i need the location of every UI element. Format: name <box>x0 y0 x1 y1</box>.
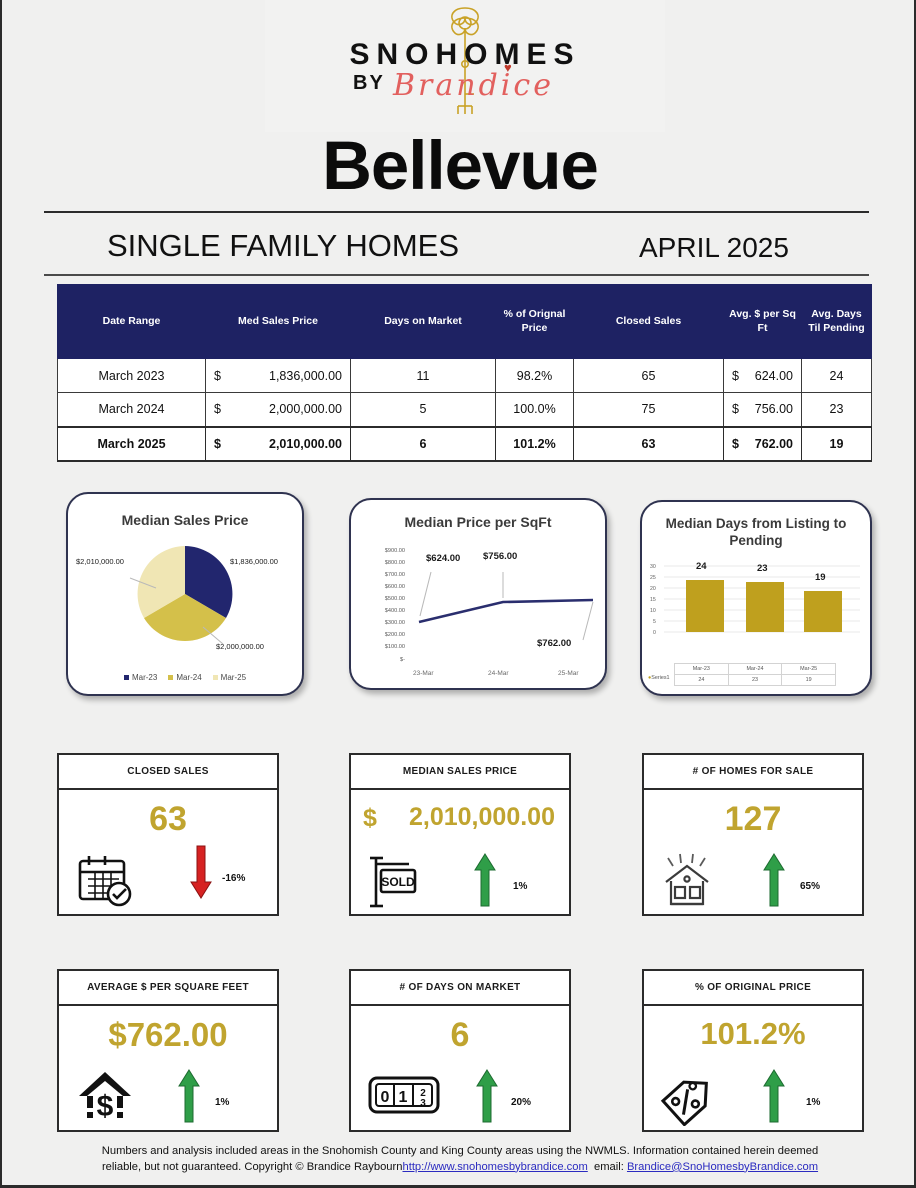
leader-line-762 <box>583 602 593 640</box>
email-link[interactable]: Brandice@SnoHomesbyBrandice.com <box>627 1161 818 1173</box>
brand-by-label: BY <box>353 72 385 95</box>
dt-val-mar-24: 23 <box>728 675 782 686</box>
trend-up-arrow-icon <box>475 1068 499 1126</box>
amount: 1,836,000.00 <box>269 369 342 383</box>
price-tag-percent-icon <box>660 1070 722 1126</box>
bar-mar-24 <box>746 582 784 632</box>
amount: 624.00 <box>755 369 793 383</box>
currency-symbol: $ <box>732 437 739 451</box>
ytick-zero: $- <box>357 657 405 663</box>
dt-cat-mar-25: Mar-25 <box>782 664 836 675</box>
cell-date-range: March 2023 <box>58 359 206 393</box>
ytick-600: $600.00 <box>357 584 405 590</box>
heart-icon: ♥ <box>504 60 512 75</box>
stat-delta: 65% <box>800 881 820 892</box>
table-row: March 2025 $2,010,000.00 6 101.2% 63 $76… <box>58 427 872 461</box>
cell-med-price: $1,836,000.00 <box>206 359 351 393</box>
col-date-range: Date Range <box>58 285 206 359</box>
currency-symbol: $ <box>214 437 221 451</box>
cell-closed-sales: 65 <box>574 359 724 393</box>
calendar-check-icon <box>75 852 137 910</box>
trend-up-arrow-icon <box>177 1068 201 1126</box>
col-avg-days-pending: Avg. Days Til Pending <box>802 285 872 359</box>
ytick-200: $200.00 <box>357 632 405 638</box>
currency-symbol: $ <box>214 402 221 416</box>
sold-sign-icon: SOLD <box>367 854 429 910</box>
ytick-30: 30 <box>650 564 656 570</box>
trend-up-arrow-icon <box>762 852 786 910</box>
col-pct-original: % of Orignal Price <box>496 285 574 359</box>
stat-title: MEDIAN SALES PRICE <box>351 755 569 790</box>
property-type-label: SINGLE FAMILY HOMES <box>107 228 459 264</box>
stat-delta: 1% <box>513 881 527 892</box>
trend-down-arrow-icon <box>189 844 213 902</box>
trend-up-arrow-icon <box>762 1068 786 1126</box>
amount: 762.00 <box>755 437 793 451</box>
footer-line-2: reliable, but not guaranteed. Copyright … <box>102 1161 403 1173</box>
trend-up-arrow-icon <box>473 852 497 910</box>
svg-text:1: 1 <box>399 1089 408 1106</box>
data-table-header-row: Mar-23 Mar-24 Mar-25 <box>675 664 836 675</box>
col-closed-sales: Closed Sales <box>574 285 724 359</box>
table-header-row: Date Range Med Sales Price Days on Marke… <box>58 285 872 359</box>
stat-value: 6 <box>351 1016 569 1055</box>
cell-date-range: March 2024 <box>58 393 206 427</box>
chart-median-sales-price: Median Sales Price $2,010,000.00 $1,836,… <box>66 492 304 696</box>
divider-bottom <box>44 274 869 276</box>
stat-value: $762.00 <box>59 1016 277 1054</box>
stat-value: 127 <box>644 800 862 839</box>
chart-median-price-per-sqft: Median Price per SqFt $900.00 $800.00 $7… <box>349 498 607 690</box>
footer-disclaimer: Numbers and analysis included areas in t… <box>2 1143 916 1175</box>
cell-days-market: 6 <box>351 427 496 461</box>
point-label-762: $762.00 <box>537 638 571 649</box>
bar-mar-23 <box>686 580 724 632</box>
stat-title: # OF HOMES FOR SALE <box>644 755 862 790</box>
market-stats-table: Date Range Med Sales Price Days on Marke… <box>57 284 864 462</box>
website-link[interactable]: http://www.snohomesbybrandice.com <box>402 1161 587 1173</box>
pie-label-mar-25: $2,010,000.00 <box>76 557 124 566</box>
cell-med-price: $2,010,000.00 <box>206 427 351 461</box>
cell-days-pending: 23 <box>802 393 872 427</box>
chart-median-days-to-pending: Median Days from Listing to Pending 30 2… <box>640 500 872 696</box>
ytick-15: 15 <box>650 597 656 603</box>
data-table-value-row: 24 23 19 <box>675 675 836 686</box>
table-row: March 2023 $1,836,000.00 11 98.2% 65 $62… <box>58 359 872 393</box>
bar-value-mar-25: 19 <box>815 572 826 583</box>
col-med-sales-price: Med Sales Price <box>206 285 351 359</box>
xtick-24-mar: 24-Mar <box>488 670 509 677</box>
ytick-100: $100.00 <box>357 644 405 650</box>
ytick-10: 10 <box>650 608 656 614</box>
svg-text:3: 3 <box>420 1098 426 1109</box>
ytick-300: $300.00 <box>357 620 405 626</box>
stat-card-pct-of-original-price: % OF ORIGINAL PRICE 101.2% 1% <box>642 969 864 1132</box>
amount: 2,000,000.00 <box>269 402 342 416</box>
cell-closed-sales: 75 <box>574 393 724 427</box>
stat-card-median-sales-price: MEDIAN SALES PRICE $ 2,010,000.00 SOLD 1… <box>349 753 571 916</box>
legend-item-mar-25: Mar-25 <box>213 673 246 682</box>
divider-top <box>44 211 869 213</box>
stat-delta: 20% <box>511 1097 531 1108</box>
xtick-25-mar: 25-Mar <box>558 670 579 677</box>
ytick-25: 25 <box>650 575 656 581</box>
cell-days-pending: 19 <box>802 427 872 461</box>
bar-value-mar-24: 23 <box>757 563 768 574</box>
cell-days-market: 5 <box>351 393 496 427</box>
bar-mar-25 <box>804 591 842 632</box>
stat-title: # OF DAYS ON MARKET <box>351 971 569 1006</box>
stat-value-prefix: $ <box>363 804 377 833</box>
pie-label-mar-23: $1,836,000.00 <box>230 557 278 566</box>
chart-title: Median Days from Listing to Pending <box>642 516 870 550</box>
report-period-label: APRIL 2025 <box>639 232 789 264</box>
currency-symbol: $ <box>732 402 739 416</box>
bar-legend-series: ●Series1 <box>648 675 670 681</box>
point-label-624: $624.00 <box>426 553 460 564</box>
brand-script-name: Brandice <box>393 68 554 103</box>
pie-legend: Mar-23 Mar-24 Mar-25 <box>68 673 302 682</box>
pie-svg <box>68 532 302 652</box>
page-title: Bellevue <box>2 126 916 205</box>
email-label: email: <box>594 1161 624 1173</box>
dt-val-mar-25: 19 <box>782 675 836 686</box>
currency-symbol: $ <box>214 369 221 383</box>
ytick-500: $500.00 <box>357 596 405 602</box>
cell-pct-original: 101.2% <box>496 427 574 461</box>
bar-value-mar-23: 24 <box>696 561 707 572</box>
stat-value: 101.2% <box>644 1016 862 1052</box>
ytick-5: 5 <box>653 619 656 625</box>
cell-avg-sqft: $756.00 <box>724 393 802 427</box>
cell-avg-sqft: $762.00 <box>724 427 802 461</box>
legend-item-mar-24: Mar-24 <box>168 673 201 682</box>
leader-line-624 <box>420 572 431 616</box>
point-label-756: $756.00 <box>483 551 517 562</box>
chart-title: Median Sales Price <box>68 512 302 528</box>
house-sparkle-icon <box>660 852 722 910</box>
col-avg-per-sqft: Avg. $ per Sq Ft <box>724 285 802 359</box>
ytick-0: 0 <box>653 630 656 636</box>
dt-cat-mar-24: Mar-24 <box>728 664 782 675</box>
ytick-400: $400.00 <box>357 608 405 614</box>
svg-text:$: $ <box>97 1090 114 1123</box>
svg-text:0: 0 <box>381 1089 390 1106</box>
cell-closed-sales: 63 <box>574 427 724 461</box>
stat-card-homes-for-sale: # OF HOMES FOR SALE 127 <box>642 753 864 916</box>
xtick-23-mar: 23-Mar <box>413 670 434 677</box>
brand-logo: SNOHOMES BY Brandice ♥ <box>265 0 665 132</box>
bar-data-table: Mar-23 Mar-24 Mar-25 24 23 19 <box>674 663 836 686</box>
cell-med-price: $2,000,000.00 <box>206 393 351 427</box>
stat-delta: 1% <box>215 1097 229 1108</box>
cell-pct-original: 100.0% <box>496 393 574 427</box>
currency-symbol: $ <box>732 369 739 383</box>
amount: 756.00 <box>755 402 793 416</box>
cell-days-market: 11 <box>351 359 496 393</box>
line-series <box>419 600 593 622</box>
col-days-on-market: Days on Market <box>351 285 496 359</box>
stat-value: 63 <box>59 800 277 839</box>
amount: 2,010,000.00 <box>269 437 342 451</box>
bar-svg <box>664 562 860 644</box>
brand-name: SNOHOMES <box>265 38 665 72</box>
stat-card-days-on-market: # OF DAYS ON MARKET 6 0 1 2 3 20% <box>349 969 571 1132</box>
stat-card-closed-sales: CLOSED SALES 63 <box>57 753 279 916</box>
cell-avg-sqft: $624.00 <box>724 359 802 393</box>
stat-value: 2,010,000.00 <box>409 803 555 832</box>
stat-delta: 1% <box>806 1097 820 1108</box>
odometer-icon: 0 1 2 3 <box>367 1074 447 1118</box>
house-dollar-icon: $ <box>75 1066 141 1126</box>
svg-text:SOLD: SOLD <box>381 875 415 889</box>
cell-days-pending: 24 <box>802 359 872 393</box>
legend-item-mar-23: Mar-23 <box>124 673 157 682</box>
ytick-800: $800.00 <box>357 560 405 566</box>
chart-title: Median Price per SqFt <box>351 514 605 530</box>
stat-card-avg-per-sqft: AVERAGE $ PER SQUARE FEET $762.00 $ 1% <box>57 969 279 1132</box>
stat-title: % OF ORIGINAL PRICE <box>644 971 862 1006</box>
ytick-20: 20 <box>650 586 656 592</box>
table-row: March 2024 $2,000,000.00 5 100.0% 75 $75… <box>58 393 872 427</box>
ytick-900: $900.00 <box>357 548 405 554</box>
ytick-700: $700.00 <box>357 572 405 578</box>
stat-title: CLOSED SALES <box>59 755 277 790</box>
stat-delta: -16% <box>222 873 245 884</box>
cell-date-range: March 2025 <box>58 427 206 461</box>
cell-pct-original: 98.2% <box>496 359 574 393</box>
pie-label-mar-24: $2,000,000.00 <box>216 642 264 651</box>
dt-val-mar-23: 24 <box>675 675 729 686</box>
footer-line-1: Numbers and analysis included areas in t… <box>102 1145 818 1157</box>
dt-cat-mar-23: Mar-23 <box>675 664 729 675</box>
report-page: SNOHOMES BY Brandice ♥ Bellevue SINGLE F… <box>0 0 916 1188</box>
stat-title: AVERAGE $ PER SQUARE FEET <box>59 971 277 1006</box>
